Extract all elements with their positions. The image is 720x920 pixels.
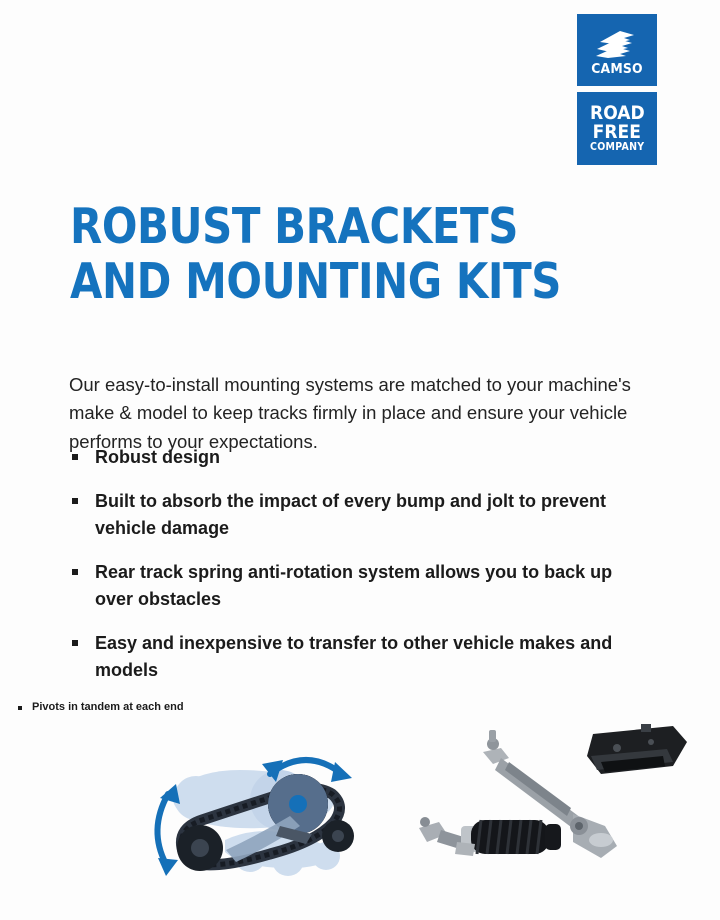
road-free-line-2: FREE — [593, 123, 641, 141]
pivot-arrow-left — [157, 784, 180, 876]
mounting-bracket-plate — [587, 724, 687, 774]
list-item: Easy and inexpensive to transfer to othe… — [69, 630, 635, 684]
sprocket-hub — [289, 795, 307, 813]
footnote-pivots: Pivots in tandem at each end — [18, 701, 184, 713]
camso-wordmark: CAMSO — [591, 63, 643, 77]
page-title: ROBUST BRACKETS AND MOUNTING KITS — [70, 199, 561, 309]
anti-rotation-spring-rod — [419, 817, 561, 856]
page-title-line-2: AND MOUNTING KITS — [70, 254, 561, 309]
page-title-line-1: ROBUST BRACKETS — [70, 199, 561, 254]
figure-row — [0, 722, 720, 892]
camso-logo-stack: CAMSO ROAD FREE COMPANY — [577, 14, 657, 165]
list-item: Robust design — [69, 444, 635, 471]
list-item: Rear track spring anti-rotation system a… — [69, 559, 635, 613]
camso-primary-badge: CAMSO — [577, 14, 657, 86]
list-item: Built to absorb the impact of every bump… — [69, 488, 635, 542]
feature-bullet-list: Robust design Built to absorb the impact… — [69, 444, 635, 701]
road-free-company-badge: ROAD FREE COMPANY — [577, 92, 657, 165]
rubber-track-pivot-diagram — [130, 730, 390, 885]
mounting-bracket-hardware — [405, 722, 705, 882]
road-free-line-3: COMPANY — [590, 143, 644, 153]
camso-chevron-mark — [594, 29, 640, 59]
